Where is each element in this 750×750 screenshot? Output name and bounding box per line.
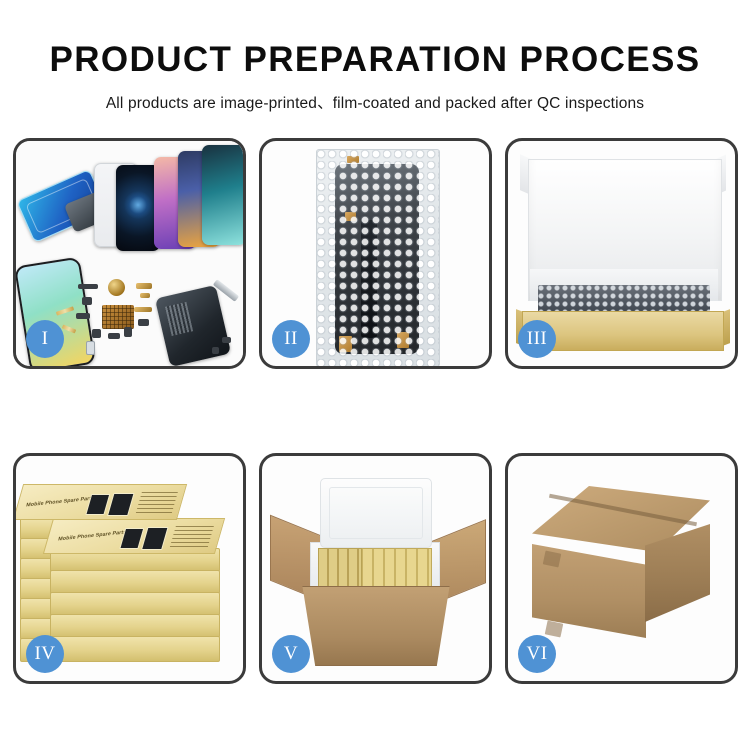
- wrapped-flex-cable: [361, 220, 377, 338]
- step-badge-6: VI: [518, 635, 556, 673]
- process-step-panel-3[interactable]: III: [505, 138, 738, 369]
- foam-insert-lid: [320, 478, 432, 548]
- bag-tape-top: [347, 156, 359, 163]
- inner-box-face-2: Mobile Phone Spare Parts: [43, 518, 225, 554]
- process-step-panel-4[interactable]: Mobile Phone Spare Parts Mobile Phone Sp…: [13, 453, 246, 684]
- stacked-box-r5: [50, 636, 220, 662]
- phone-screen-teal: [202, 145, 243, 245]
- process-step-panel-1[interactable]: I: [13, 138, 246, 369]
- small-part-7: [138, 319, 149, 326]
- stacked-box-r4: [50, 614, 220, 638]
- inner-box-label-1: Mobile Phone Spare Parts: [26, 496, 95, 509]
- small-part-3: [76, 313, 90, 319]
- flex-cable-2: [140, 293, 150, 298]
- small-part-1: [78, 284, 98, 289]
- small-part-2: [82, 297, 92, 305]
- carton-body: [296, 586, 456, 666]
- small-part-9: [212, 347, 219, 354]
- packed-yellow-boxes-edge: [318, 548, 362, 588]
- step-badge-3: III: [518, 320, 556, 358]
- step-badge-2: II: [272, 320, 310, 358]
- sim-tray: [86, 341, 95, 355]
- wrapped-phone-part: [335, 164, 419, 354]
- process-step-panel-2[interactable]: II: [259, 138, 492, 369]
- carton-tape-lower: [545, 620, 564, 637]
- small-part-6: [124, 327, 132, 337]
- step-badge-1: I: [26, 320, 64, 358]
- page-header: PRODUCT PREPARATION PROCESS All products…: [0, 0, 750, 113]
- bubble-wrap-bag: [316, 149, 440, 366]
- page-subtitle: All products are image-printed、film-coat…: [0, 77, 750, 113]
- inner-box-speclines-1: [136, 492, 178, 513]
- bag-tape-mid: [345, 212, 356, 221]
- step-badge-4: IV: [26, 635, 64, 673]
- flex-cable-1: [136, 283, 152, 289]
- small-part-5: [108, 333, 120, 339]
- stacked-box-r2: [50, 570, 220, 594]
- speaker-module-icon: [108, 279, 125, 296]
- bag-tape-bottom-right: [397, 332, 409, 348]
- flex-cable-3: [134, 307, 152, 312]
- inner-box-speclines-2: [170, 526, 214, 547]
- inner-box-label-2: Mobile Phone Spare Parts: [58, 530, 127, 543]
- process-step-grid: I II III: [13, 138, 739, 684]
- stacked-box-r3: [50, 592, 220, 616]
- process-step-panel-5[interactable]: V: [259, 453, 492, 684]
- small-part-8: [222, 337, 231, 343]
- process-step-panel-6[interactable]: VI: [505, 453, 738, 684]
- page-title: PRODUCT PREPARATION PROCESS: [0, 0, 750, 77]
- bag-tape-bottom-left: [339, 336, 352, 352]
- inner-box-face-1: Mobile Phone Spare Parts: [16, 484, 187, 520]
- inner-box-thumb-2b: [141, 527, 169, 550]
- step-badge-5: V: [272, 635, 310, 673]
- inner-box-thumb-1b: [107, 493, 135, 516]
- logic-board-chip: [102, 305, 134, 329]
- carton-tape-upper: [543, 550, 562, 567]
- small-part-4: [92, 329, 101, 338]
